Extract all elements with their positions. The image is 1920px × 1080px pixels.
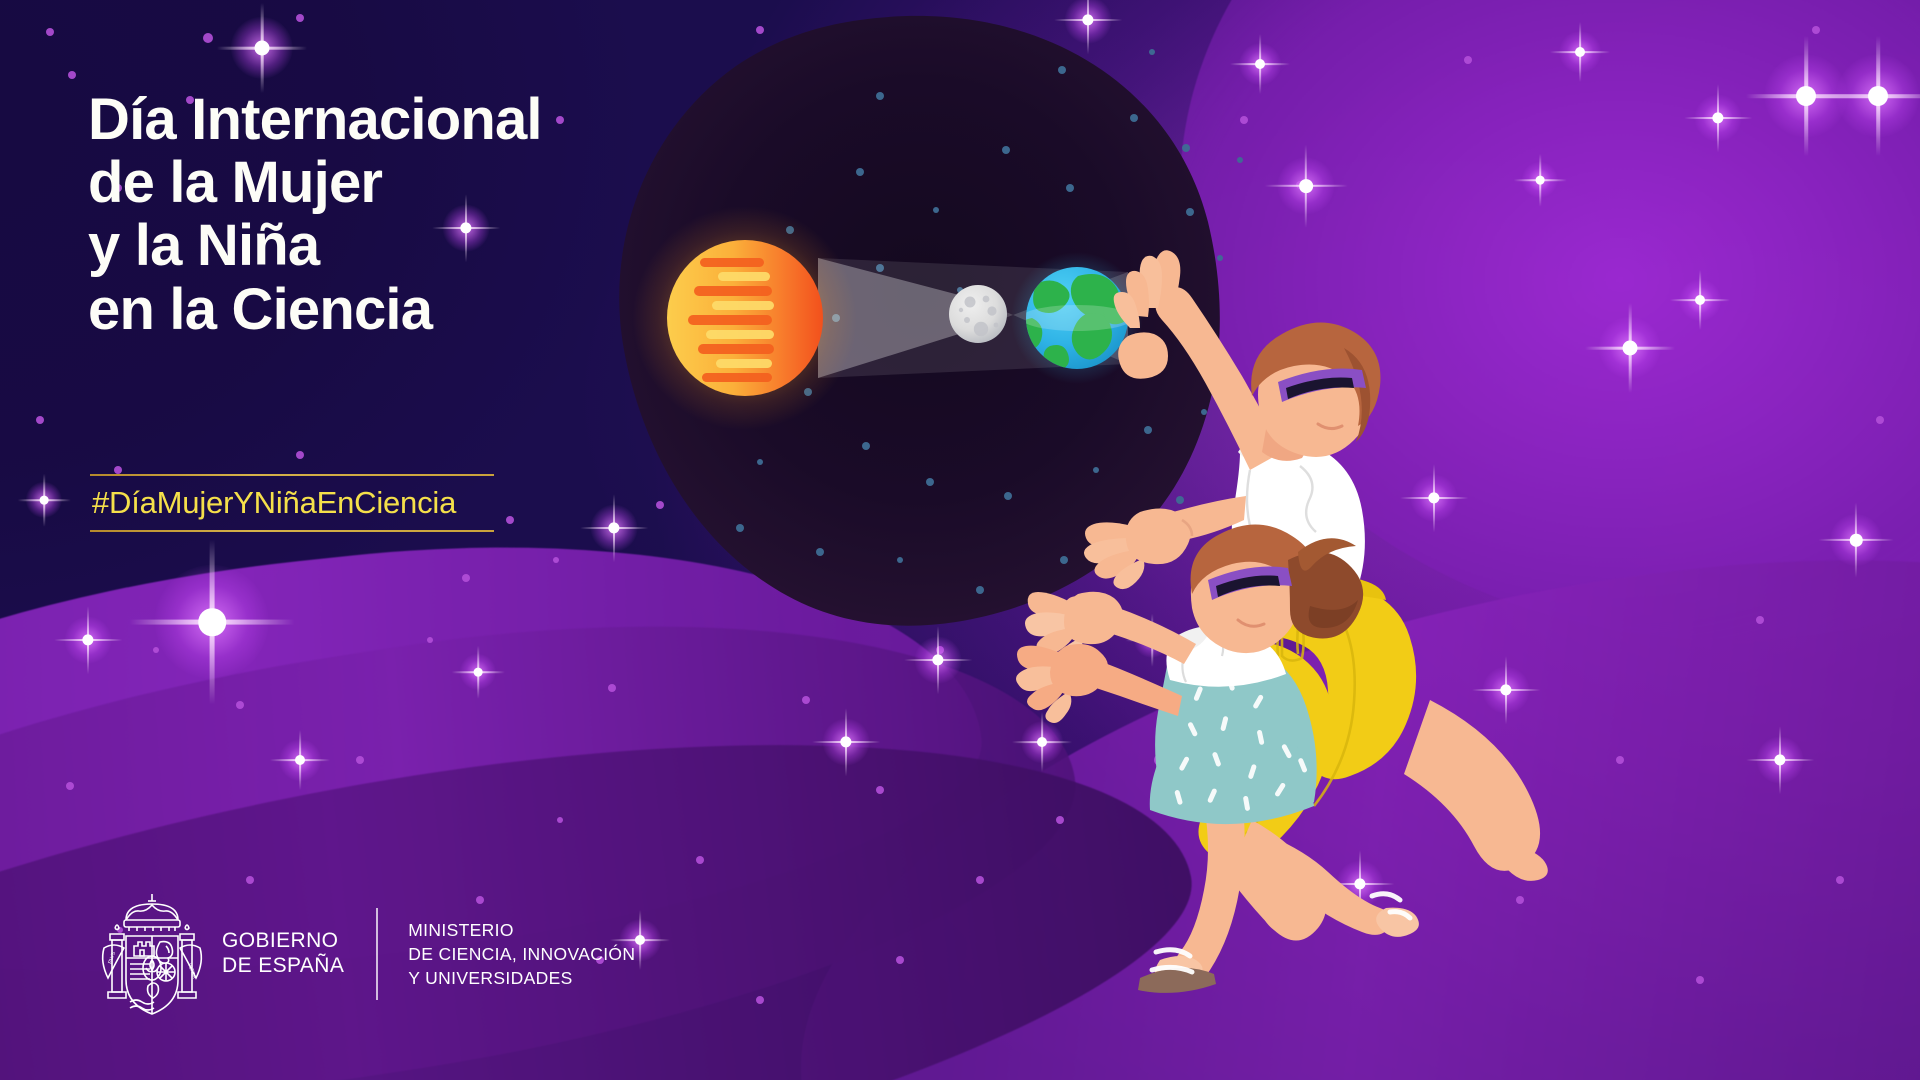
star-dot — [1093, 467, 1099, 473]
star-dot — [816, 548, 824, 556]
star-dot — [786, 226, 794, 234]
star-dot — [1616, 756, 1624, 764]
star-dot — [1060, 556, 1068, 564]
star-dot — [862, 442, 870, 450]
sparkle-star-icon — [1826, 510, 1886, 570]
sparkle-star-icon — [226, 12, 298, 84]
star-dot — [757, 459, 763, 465]
star-dot — [736, 524, 744, 532]
star-dot — [1058, 66, 1066, 74]
star-dot — [236, 701, 244, 709]
star-dot — [876, 786, 884, 794]
sparkle-star-icon — [276, 736, 324, 784]
star-dot — [66, 782, 74, 790]
government-line-1: GOBIERNO — [222, 929, 344, 954]
star-dot — [976, 586, 984, 594]
sparkle-star-icon — [61, 613, 115, 667]
star-dot — [1002, 146, 1010, 154]
hashtag-text: #DíaMujerYNiñaEnCiencia — [90, 476, 494, 530]
star-dot — [957, 287, 963, 293]
sparkle-star-icon — [819, 715, 873, 769]
hashtag-rule-bottom — [90, 530, 494, 532]
sparkle-star-icon — [1556, 28, 1604, 76]
star-dot — [557, 817, 563, 823]
footer-branding: PLVS VLTRA GOBIERNO DE ESPAÑA MINISTERIO… — [96, 890, 635, 1018]
star-dot — [1214, 344, 1222, 352]
star-dot — [1154, 754, 1166, 766]
headline-line-1: Día Internacional — [88, 88, 728, 151]
star-dot — [296, 451, 304, 459]
sparkle-star-icon — [1407, 471, 1461, 525]
ministry-line-2: DE CIENCIA, INNOVACIÓN — [408, 942, 635, 966]
hashtag-block: #DíaMujerYNiñaEnCiencia — [90, 474, 494, 532]
star-dot — [46, 28, 54, 36]
poster-canvas: Día Internacional de la Mujer y la Niña … — [0, 0, 1920, 1080]
star-dot — [926, 478, 934, 486]
star-dot — [506, 516, 514, 524]
star-dot — [1516, 896, 1524, 904]
star-dot — [1217, 255, 1223, 261]
star-dot — [356, 756, 364, 764]
star-dot — [896, 956, 904, 964]
government-line-2: DE ESPAÑA — [222, 954, 344, 979]
sparkle-star-icon — [1676, 276, 1724, 324]
star-dot — [1126, 572, 1134, 580]
star-dot — [1836, 876, 1844, 884]
star-dot — [1876, 416, 1884, 424]
ministry-label: MINISTERIO DE CIENCIA, INNOVACIÓN Y UNIV… — [408, 918, 635, 990]
star-dot — [1756, 616, 1764, 624]
star-dot — [553, 557, 559, 563]
sparkle-star-icon — [1691, 91, 1745, 145]
star-dot — [876, 92, 884, 100]
star-dot — [1812, 26, 1820, 34]
star-dot — [114, 466, 122, 474]
star-dot — [1696, 976, 1704, 984]
star-dot — [804, 388, 812, 396]
star-dot — [1149, 49, 1155, 55]
star-dot — [68, 71, 76, 79]
star-dot — [1186, 208, 1194, 216]
star-dot — [427, 637, 433, 643]
star-dot — [1201, 409, 1207, 415]
sparkle-star-icon — [1753, 733, 1807, 787]
svg-text:VLTRA: VLTRA — [186, 963, 197, 980]
star-dot — [1165, 297, 1171, 303]
spain-coat-of-arms-icon: PLVS VLTRA — [96, 890, 208, 1018]
sparkle-star-icon — [1830, 48, 1920, 144]
headline-line-4: en la Ciencia — [88, 278, 728, 341]
ministry-line-1: MINISTERIO — [408, 918, 635, 942]
star-dot — [933, 207, 939, 213]
star-dot — [1464, 56, 1472, 64]
headline-line-3: y la Niña — [88, 214, 728, 277]
headline-line-2: de la Mujer — [88, 151, 728, 214]
star-dot — [856, 168, 864, 176]
star-dot — [876, 264, 884, 272]
sparkle-star-icon — [146, 556, 278, 688]
star-dot — [832, 314, 840, 322]
star-dot — [1182, 144, 1190, 152]
sparkle-star-icon — [457, 651, 499, 693]
star-dot — [1176, 496, 1184, 504]
sparkle-star-icon — [23, 479, 65, 521]
star-dot — [1066, 184, 1074, 192]
sparkle-star-icon — [1594, 312, 1666, 384]
star-dot — [1056, 816, 1064, 824]
sparkle-star-icon — [1519, 159, 1561, 201]
star-dot — [1130, 114, 1138, 122]
sparkle-star-icon — [1018, 718, 1066, 766]
government-label: GOBIERNO DE ESPAÑA — [222, 929, 344, 979]
footer-divider — [376, 908, 378, 1000]
star-dot — [203, 33, 213, 43]
star-dot — [976, 876, 984, 884]
star-dot — [246, 876, 254, 884]
star-dot — [462, 574, 470, 582]
star-dot — [1237, 157, 1243, 163]
star-dot — [36, 416, 44, 424]
star-dot — [756, 996, 764, 1004]
star-dot — [897, 557, 903, 563]
sparkle-star-icon — [1333, 857, 1387, 911]
sparkle-star-icon — [1479, 663, 1533, 717]
ministry-line-3: Y UNIVERSIDADES — [408, 966, 635, 990]
star-dot — [1144, 426, 1152, 434]
star-dot — [696, 856, 704, 864]
page-title: Día Internacional de la Mujer y la Niña … — [88, 88, 728, 341]
star-dot — [1004, 492, 1012, 500]
